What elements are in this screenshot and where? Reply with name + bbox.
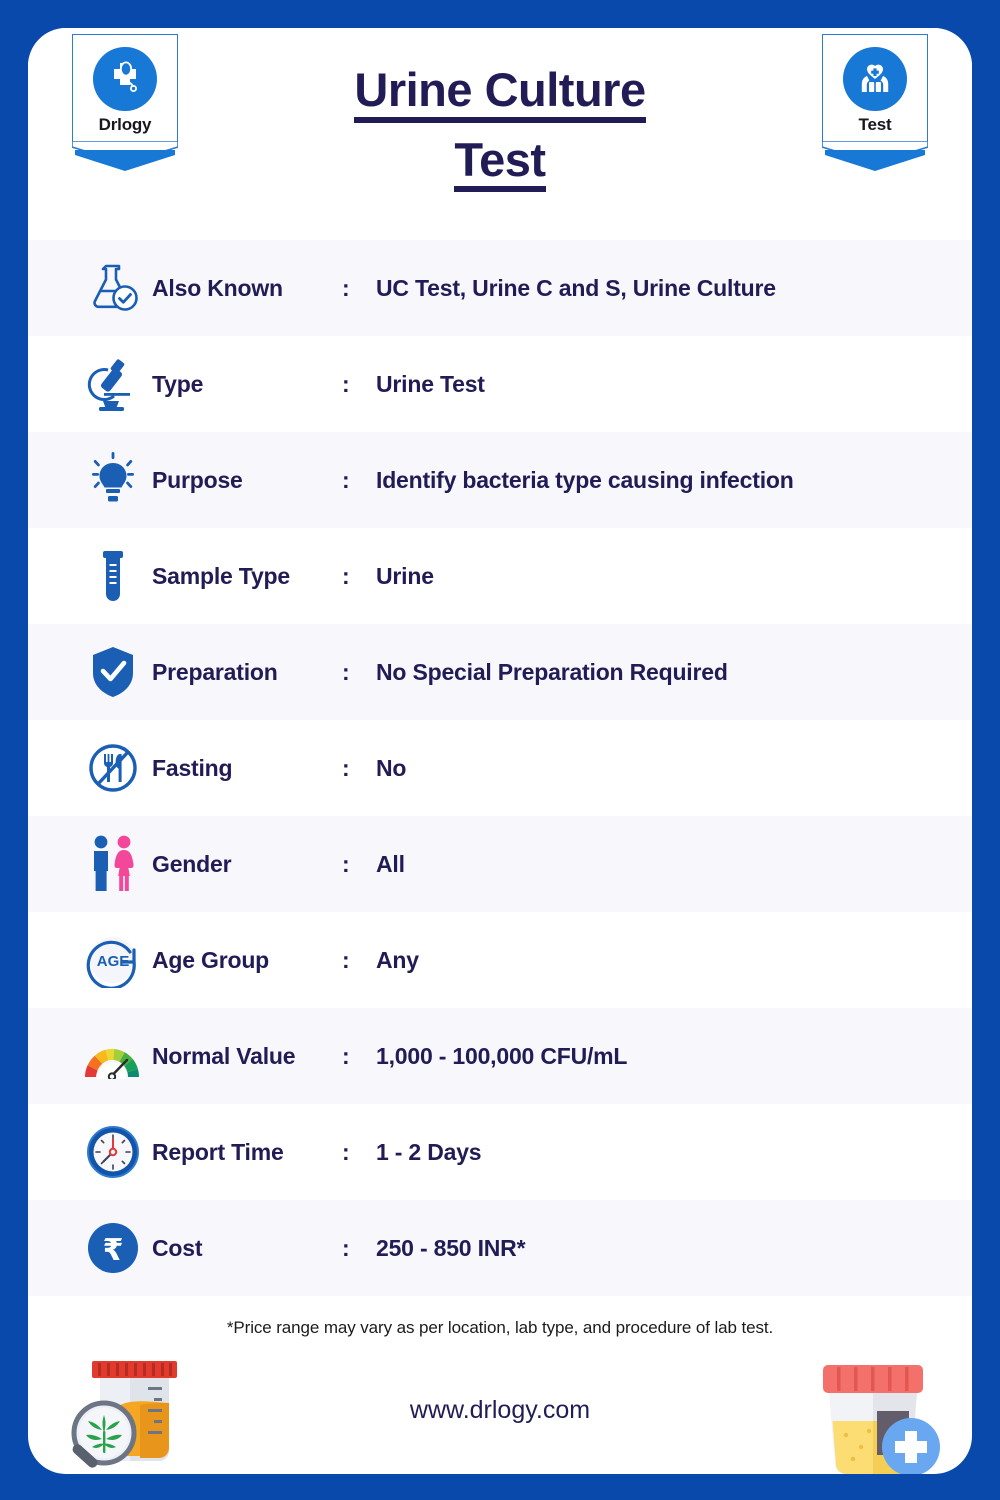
table-row: Type : Urine Test — [28, 336, 972, 432]
table-row: AGE Age Group : Any — [28, 912, 972, 1008]
table-row: Normal Value : 1,000 - 100,000 CFU/mL — [28, 1008, 972, 1104]
table-row: Preparation : No Special Preparation Req… — [28, 624, 972, 720]
badge-right-label: Test — [829, 115, 921, 135]
shield-check-icon — [74, 639, 152, 705]
table-row: ₹ Cost : 250 - 850 INR* — [28, 1200, 972, 1296]
row-colon: : — [342, 947, 376, 974]
clock-icon — [74, 1119, 152, 1185]
hands-holding-heart-icon — [843, 47, 907, 111]
no-food-icon — [74, 735, 152, 801]
row-label: Cost — [152, 1235, 342, 1262]
row-value: No Special Preparation Required — [376, 659, 728, 686]
test-tube-icon — [74, 543, 152, 609]
price-disclaimer: *Price range may vary as per location, l… — [28, 1296, 972, 1338]
title-line-2: Test — [454, 134, 545, 193]
row-value: Urine Test — [376, 371, 485, 398]
header: Drlogy Urine Culture Test — [28, 28, 972, 240]
row-colon: : — [342, 563, 376, 590]
row-value: 1,000 - 100,000 CFU/mL — [376, 1043, 627, 1070]
row-colon: : — [342, 1235, 376, 1262]
row-colon: : — [342, 755, 376, 782]
badge-ribbon — [72, 141, 178, 171]
row-colon: : — [342, 371, 376, 398]
row-value: No — [376, 755, 406, 782]
table-row: Purpose : Identify bacteria type causing… — [28, 432, 972, 528]
medical-cross-stethoscope-icon — [93, 47, 157, 111]
row-value: Identify bacteria type causing infection — [376, 467, 794, 494]
table-row: Sample Type : Urine — [28, 528, 972, 624]
page-title: Urine Culture Test — [198, 64, 802, 203]
row-value: 1 - 2 Days — [376, 1139, 481, 1166]
row-label: Report Time — [152, 1139, 342, 1166]
urine-sample-plus-icon — [809, 1359, 944, 1474]
microscope-icon — [74, 351, 152, 417]
row-colon: : — [342, 1139, 376, 1166]
male-female-icon — [74, 831, 152, 897]
table-row: Also Known : UC Test, Urine C and S, Uri… — [28, 240, 972, 336]
badge-left-label: Drlogy — [79, 115, 171, 135]
badge-ribbon — [822, 141, 928, 171]
flask-check-icon — [74, 255, 152, 321]
age-circle-icon: AGE — [74, 927, 152, 993]
badge-box: Drlogy — [72, 34, 178, 141]
row-label: Age Group — [152, 947, 342, 974]
svg-text:AGE: AGE — [97, 953, 130, 970]
row-value: Any — [376, 947, 419, 974]
gauge-icon — [74, 1023, 152, 1089]
row-label: Gender — [152, 851, 342, 878]
table-row: Gender : All — [28, 816, 972, 912]
row-colon: : — [342, 851, 376, 878]
footer: www.drlogy.com — [28, 1338, 972, 1474]
row-colon: : — [342, 275, 376, 302]
attribute-list: Also Known : UC Test, Urine C and S, Uri… — [28, 240, 972, 1296]
row-colon: : — [342, 659, 376, 686]
row-colon: : — [342, 467, 376, 494]
row-label: Preparation — [152, 659, 342, 686]
rupee-circle-icon: ₹ — [74, 1215, 152, 1281]
table-row: Report Time : 1 - 2 Days — [28, 1104, 972, 1200]
poster-background: Drlogy Urine Culture Test — [0, 0, 1000, 1500]
table-row: Fasting : No — [28, 720, 972, 816]
row-label: Fasting — [152, 755, 342, 782]
row-colon: : — [342, 1043, 376, 1070]
row-value: All — [376, 851, 405, 878]
title-line-1: Urine Culture — [354, 64, 645, 123]
brand-badge-right: Test — [822, 34, 928, 171]
info-card: Drlogy Urine Culture Test — [28, 28, 972, 1474]
row-label: Sample Type — [152, 563, 342, 590]
lightbulb-icon — [74, 447, 152, 513]
row-label: Normal Value — [152, 1043, 342, 1070]
row-value: UC Test, Urine C and S, Urine Culture — [376, 275, 776, 302]
row-label: Type — [152, 371, 342, 398]
row-label: Purpose — [152, 467, 342, 494]
row-value: Urine — [376, 563, 434, 590]
row-value: 250 - 850 INR* — [376, 1235, 525, 1262]
brand-badge-left: Drlogy — [72, 34, 178, 171]
row-label: Also Known — [152, 275, 342, 302]
svg-text:₹: ₹ — [103, 1233, 124, 1268]
badge-box: Test — [822, 34, 928, 141]
